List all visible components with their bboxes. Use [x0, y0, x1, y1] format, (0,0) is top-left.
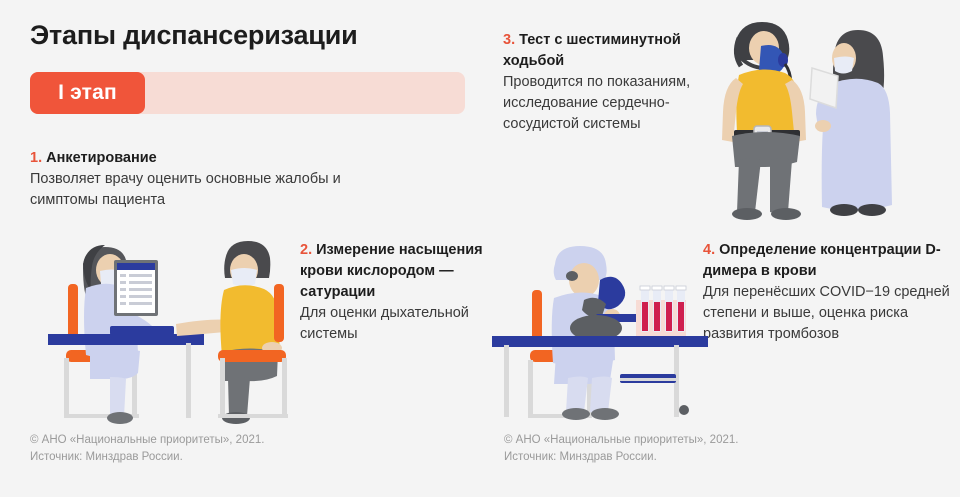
- laptop-screen-header: [117, 263, 155, 270]
- desk-leg: [186, 343, 191, 418]
- chair-left-leg-front: [64, 358, 69, 418]
- chair-right-leg-back: [282, 358, 287, 418]
- chair-right-leg-front: [220, 358, 225, 418]
- list-item-2-title: Измерение насыщения крови кислородом — с…: [300, 242, 483, 300]
- walk-doctor-mask: [834, 57, 854, 74]
- footer-right: © АНО «Национальные приоритеты», 2021. И…: [504, 432, 738, 466]
- lab-tech-shoe-right: [591, 408, 619, 420]
- chair-right-back: [274, 284, 284, 342]
- list-item-1-heading: 1. Анкетирование: [30, 148, 370, 169]
- illustration-microscope: [492, 242, 708, 424]
- lab-tech-leg-left: [566, 377, 588, 414]
- lab-chair-leg-front: [528, 360, 533, 418]
- doctor-shoe: [107, 412, 133, 424]
- footer-right-line-2: Источник: Минздрав России.: [504, 449, 738, 466]
- doctor-lap: [90, 348, 140, 379]
- list-item-3: 3. Тест с шестиминутной ходьбой Проводит…: [503, 30, 708, 135]
- list-item-4-heading: 4. Определение концентрации D-димера в к…: [703, 240, 953, 282]
- walk-doctor-hand: [815, 120, 831, 132]
- lab-tech-leg-right: [590, 377, 612, 414]
- lab-tech-shoe-left: [562, 408, 590, 420]
- walk-patient-shoe-right: [771, 208, 801, 220]
- list-item-4-body: Для перенёсших COVID−19 средней степени …: [703, 282, 953, 345]
- list-item-3-heading: 3. Тест с шестиминутной ходьбой: [503, 30, 708, 72]
- list-item-3-title: Тест с шестиминутной ходьбой: [503, 32, 681, 69]
- list-item-1-body: Позволяет врачу оценить основные жалобы …: [30, 169, 370, 211]
- list-item-4: 4. Определение концентрации D-димера в к…: [703, 240, 953, 345]
- desk-caster: [679, 405, 689, 415]
- footer-left: © АНО «Национальные приоритеты», 2021. И…: [30, 432, 264, 466]
- lab-desk-shelf: [620, 378, 676, 381]
- page-title: Этапы диспансеризации: [30, 20, 358, 51]
- list-item-1: 1. Анкетирование Позволяет врачу оценить…: [30, 148, 370, 211]
- list-item-3-number: 3.: [503, 32, 515, 48]
- infographic-canvas: Этапы диспансеризации I этап 1. Анкетиро…: [0, 0, 960, 497]
- list-item-3-body: Проводится по показаниям, исследование с…: [503, 72, 708, 135]
- list-item-2: 2. Измерение насыщения крови кислородом …: [300, 240, 485, 345]
- list-item-1-number: 1.: [30, 150, 42, 166]
- walk-patient-shoe-left: [732, 208, 762, 220]
- chair-right-seat: [218, 350, 286, 362]
- list-item-2-heading: 2. Измерение насыщения крови кислородом …: [300, 240, 485, 303]
- stage-badge: I этап: [30, 72, 145, 114]
- footer-left-line-2: Источник: Минздрав России.: [30, 449, 264, 466]
- footer-left-line-1: © АНО «Национальные приоритеты», 2021.: [30, 432, 264, 449]
- chair-right-foot-rail: [218, 414, 288, 418]
- list-item-2-body: Для оценки дыхательной системы: [300, 303, 485, 345]
- clipboard: [810, 68, 838, 108]
- list-item-4-title: Определение концентрации D-димера в кров…: [703, 242, 941, 279]
- footer-right-line-1: © АНО «Национальные приоритеты», 2021.: [504, 432, 738, 449]
- patient-leg: [228, 377, 250, 418]
- list-item-1-title: Анкетирование: [46, 150, 157, 166]
- desk-top-right: [148, 334, 204, 345]
- walk-doctor-shoe-left: [830, 204, 858, 216]
- patient-mask: [231, 268, 257, 287]
- illustration-walk-test: [706, 18, 928, 234]
- lab-desk-leg-left: [504, 345, 509, 417]
- lab-tech-eye: [566, 271, 578, 281]
- walk-doctor-shoe-right: [858, 204, 886, 216]
- walk-patient-leg-right: [770, 159, 792, 214]
- walk-patient-leg-left: [737, 159, 761, 214]
- illustration-consultation: [48, 238, 304, 426]
- keyboard: [110, 326, 174, 335]
- chair-left-back: [68, 284, 78, 340]
